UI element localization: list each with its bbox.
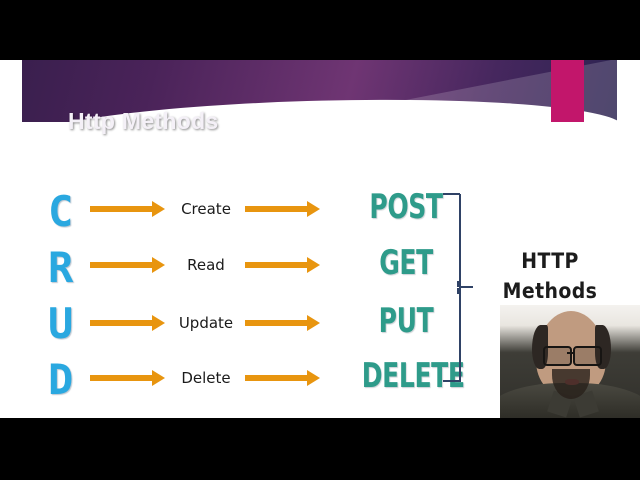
http-methods-caption: HTTP Methods <box>480 246 620 306</box>
arrow-right-icon <box>90 262 168 268</box>
arrow-right-icon <box>90 206 168 212</box>
operation-label-delete: Delete <box>172 365 240 391</box>
arrow-right-icon <box>90 320 168 326</box>
diagram-row-create: Create POST <box>0 196 640 222</box>
http-method-get: GET <box>362 238 451 288</box>
operation-label-create: Create <box>172 196 240 222</box>
curly-brace-icon <box>451 188 473 388</box>
caption-line-2: Methods <box>480 276 620 306</box>
http-method-post: POST <box>362 182 451 232</box>
http-method-delete: DELETE <box>362 351 451 401</box>
arrow-right-icon <box>245 375 323 381</box>
video-player-screen: Http Methods C R U D Create POST Read GE… <box>0 0 640 480</box>
operation-label-update: Update <box>172 310 240 336</box>
http-method-put: PUT <box>362 296 451 346</box>
letterbox-top <box>0 0 640 60</box>
letterbox-bottom <box>0 418 640 480</box>
caption-line-1: HTTP <box>480 246 620 276</box>
page-title: Http Methods <box>68 108 219 135</box>
accent-bar <box>551 60 584 122</box>
arrow-right-icon <box>245 320 323 326</box>
arrow-right-icon <box>245 206 323 212</box>
presentation-slide: Http Methods C R U D Create POST Read GE… <box>0 60 640 418</box>
presenter-webcam-overlay <box>500 305 640 418</box>
operation-label-read: Read <box>172 252 240 278</box>
arrow-right-icon <box>90 375 168 381</box>
arrow-right-icon <box>245 262 323 268</box>
